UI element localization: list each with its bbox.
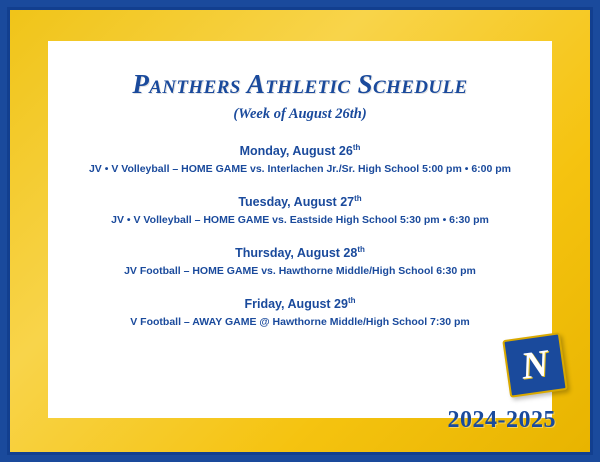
- poster-root: Panthers Athletic Schedule (Week of Augu…: [0, 0, 600, 462]
- event-day-suffix: th: [353, 143, 361, 152]
- event-day-suffix: th: [357, 245, 365, 254]
- event-day: Monday, August 26th: [71, 143, 529, 159]
- list-item: Friday, August 29th V Football – AWAY GA…: [71, 296, 529, 330]
- event-day-suffix: th: [354, 194, 362, 203]
- event-day: Thursday, August 28th: [71, 245, 529, 261]
- event-day: Tuesday, August 27th: [71, 194, 529, 210]
- panthers-logo-icon: N: [506, 336, 560, 390]
- list-item: Thursday, August 28th JV Football – HOME…: [71, 245, 529, 279]
- white-card: Panthers Athletic Schedule (Week of Augu…: [48, 41, 552, 418]
- gold-frame: Panthers Athletic Schedule (Week of Augu…: [7, 7, 593, 455]
- logo-letter: N: [519, 344, 551, 385]
- event-day: Friday, August 29th: [71, 296, 529, 312]
- list-item: Tuesday, August 27th JV • V Volleyball –…: [71, 194, 529, 228]
- event-detail: JV Football – HOME GAME vs. Hawthorne Mi…: [71, 265, 529, 279]
- event-detail: JV • V Volleyball – HOME GAME vs. Interl…: [71, 163, 529, 177]
- event-day-text: Friday, August 29: [244, 297, 348, 311]
- event-day-text: Monday, August 26: [240, 144, 353, 158]
- event-day-text: Tuesday, August 27: [238, 195, 354, 209]
- event-detail: JV • V Volleyball – HOME GAME vs. Eastsi…: [71, 214, 529, 228]
- page-title: Panthers Athletic Schedule: [71, 70, 529, 100]
- events-list: Monday, August 26th JV • V Volleyball – …: [71, 143, 529, 330]
- event-day-text: Thursday, August 28: [235, 246, 357, 260]
- event-day-suffix: th: [348, 296, 356, 305]
- list-item: Monday, August 26th JV • V Volleyball – …: [71, 143, 529, 177]
- event-detail: V Football – AWAY GAME @ Hawthorne Middl…: [71, 316, 529, 330]
- page-subtitle: (Week of August 26th): [71, 106, 529, 123]
- school-year-label: 2024-2025: [448, 407, 557, 434]
- logo-shape: N: [502, 332, 568, 398]
